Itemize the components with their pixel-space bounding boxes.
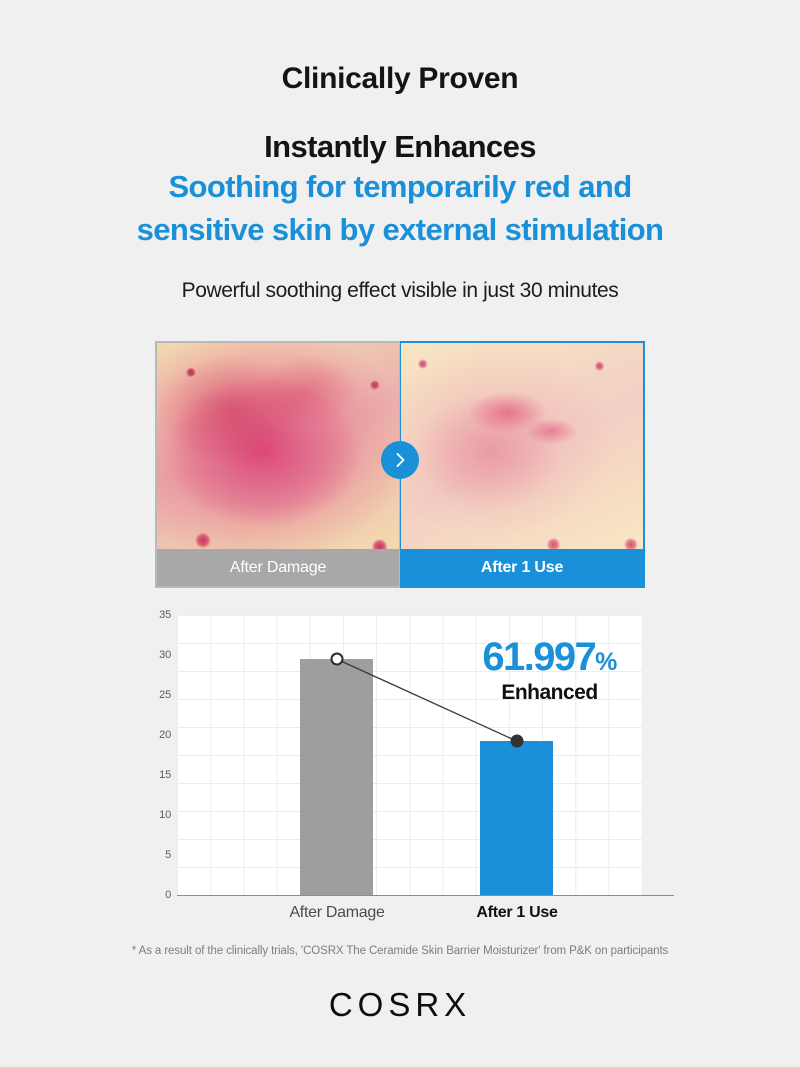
highlight-line-2: sensitive skin by external stimulation — [0, 210, 800, 251]
y-tick-15: 15 — [145, 769, 171, 781]
x-axis-line — [177, 895, 674, 896]
highlight-line-1: Soothing for temporarily red and — [0, 167, 800, 208]
x-label-after-1-use: After 1 Use — [427, 904, 607, 922]
x-label-after-damage: After Damage — [247, 904, 427, 922]
y-tick-5: 5 — [145, 849, 171, 861]
y-tick-0: 0 — [145, 889, 171, 901]
y-tick-30: 30 — [145, 649, 171, 661]
after-panel: After 1 Use — [400, 341, 645, 588]
skin-photo-soothed — [401, 343, 643, 553]
before-image — [157, 343, 399, 553]
product-infographic-page: { "headings": { "eyebrow": "Clinically P… — [0, 0, 800, 1067]
before-after-comparison: After Damage After 1 Use — [155, 341, 645, 588]
page-title: Instantly Enhances — [0, 129, 800, 165]
before-panel-label: After Damage — [157, 549, 399, 586]
bar-after-damage — [300, 659, 373, 895]
footnote-text: * As a result of the clinically trials, … — [0, 945, 800, 957]
after-panel-label: After 1 Use — [401, 549, 643, 586]
y-tick-20: 20 — [145, 729, 171, 741]
before-panel: After Damage — [155, 341, 400, 588]
improvement-value-row: 61.997% — [457, 637, 642, 677]
subtitle: Powerful soothing effect visible in just… — [0, 279, 800, 303]
chevron-right-icon — [381, 441, 419, 479]
eyebrow-heading: Clinically Proven — [0, 62, 800, 95]
improvement-caption: Enhanced — [457, 681, 642, 705]
x-axis-labels: After Damage After 1 Use — [177, 904, 642, 934]
data-marker-after-damage — [330, 653, 343, 666]
skin-photo-damaged — [157, 343, 399, 553]
percent-sign: % — [595, 648, 616, 676]
results-bar-chart: 35 30 25 20 15 10 5 0 61.997% Enhanced A… — [145, 608, 655, 928]
improvement-value: 61.997 — [482, 635, 595, 679]
data-marker-after-1-use — [510, 735, 523, 748]
cosrx-logo: COSRX — [0, 986, 800, 1024]
y-tick-35: 35 — [145, 609, 171, 621]
y-tick-10: 10 — [145, 809, 171, 821]
headline-block: Clinically Proven Instantly Enhances Soo… — [0, 0, 800, 303]
after-image — [401, 343, 643, 553]
plot-area: 61.997% Enhanced — [177, 615, 642, 895]
y-tick-25: 25 — [145, 689, 171, 701]
improvement-callout: 61.997% Enhanced — [457, 637, 642, 705]
bar-after-1-use — [480, 741, 553, 895]
